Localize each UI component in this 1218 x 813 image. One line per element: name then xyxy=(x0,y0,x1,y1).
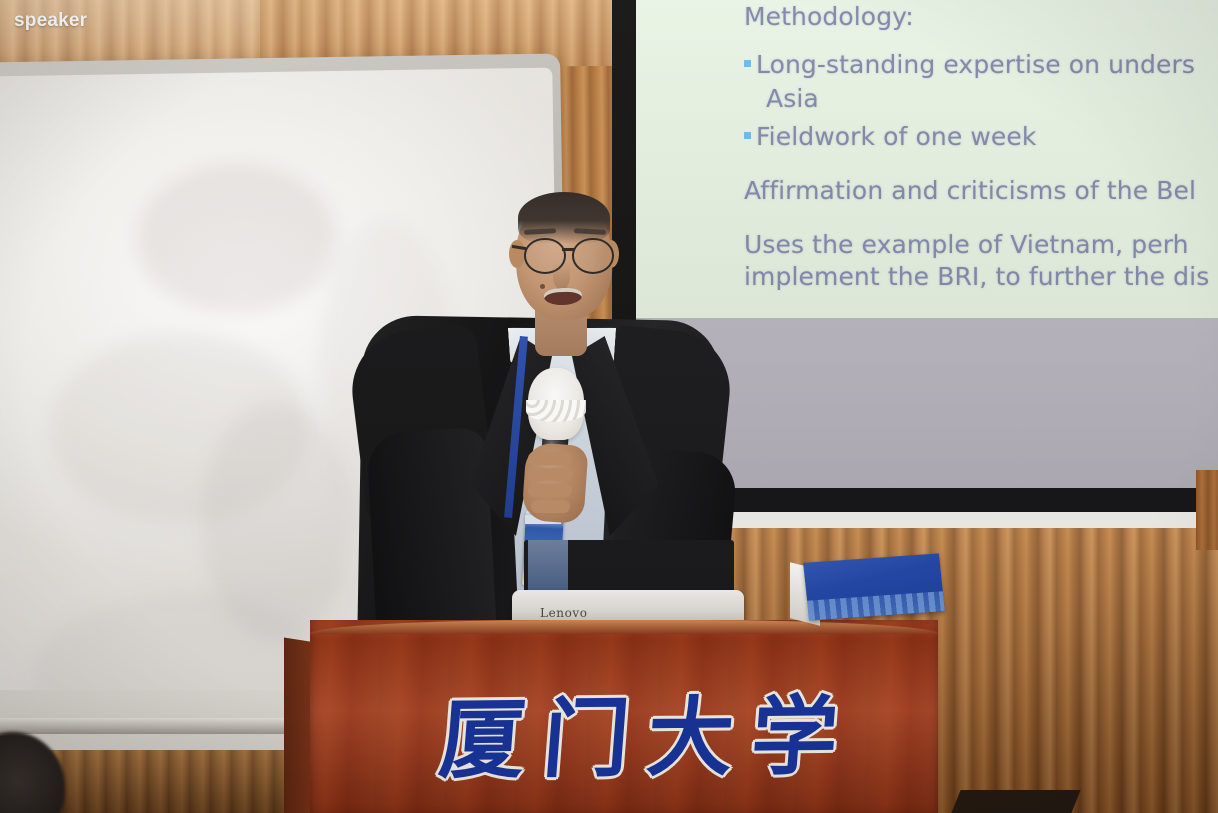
vignette-overlay xyxy=(0,0,1218,813)
presentation-photo-scene: Methodology:Long-standing expertise on u… xyxy=(0,0,1218,813)
